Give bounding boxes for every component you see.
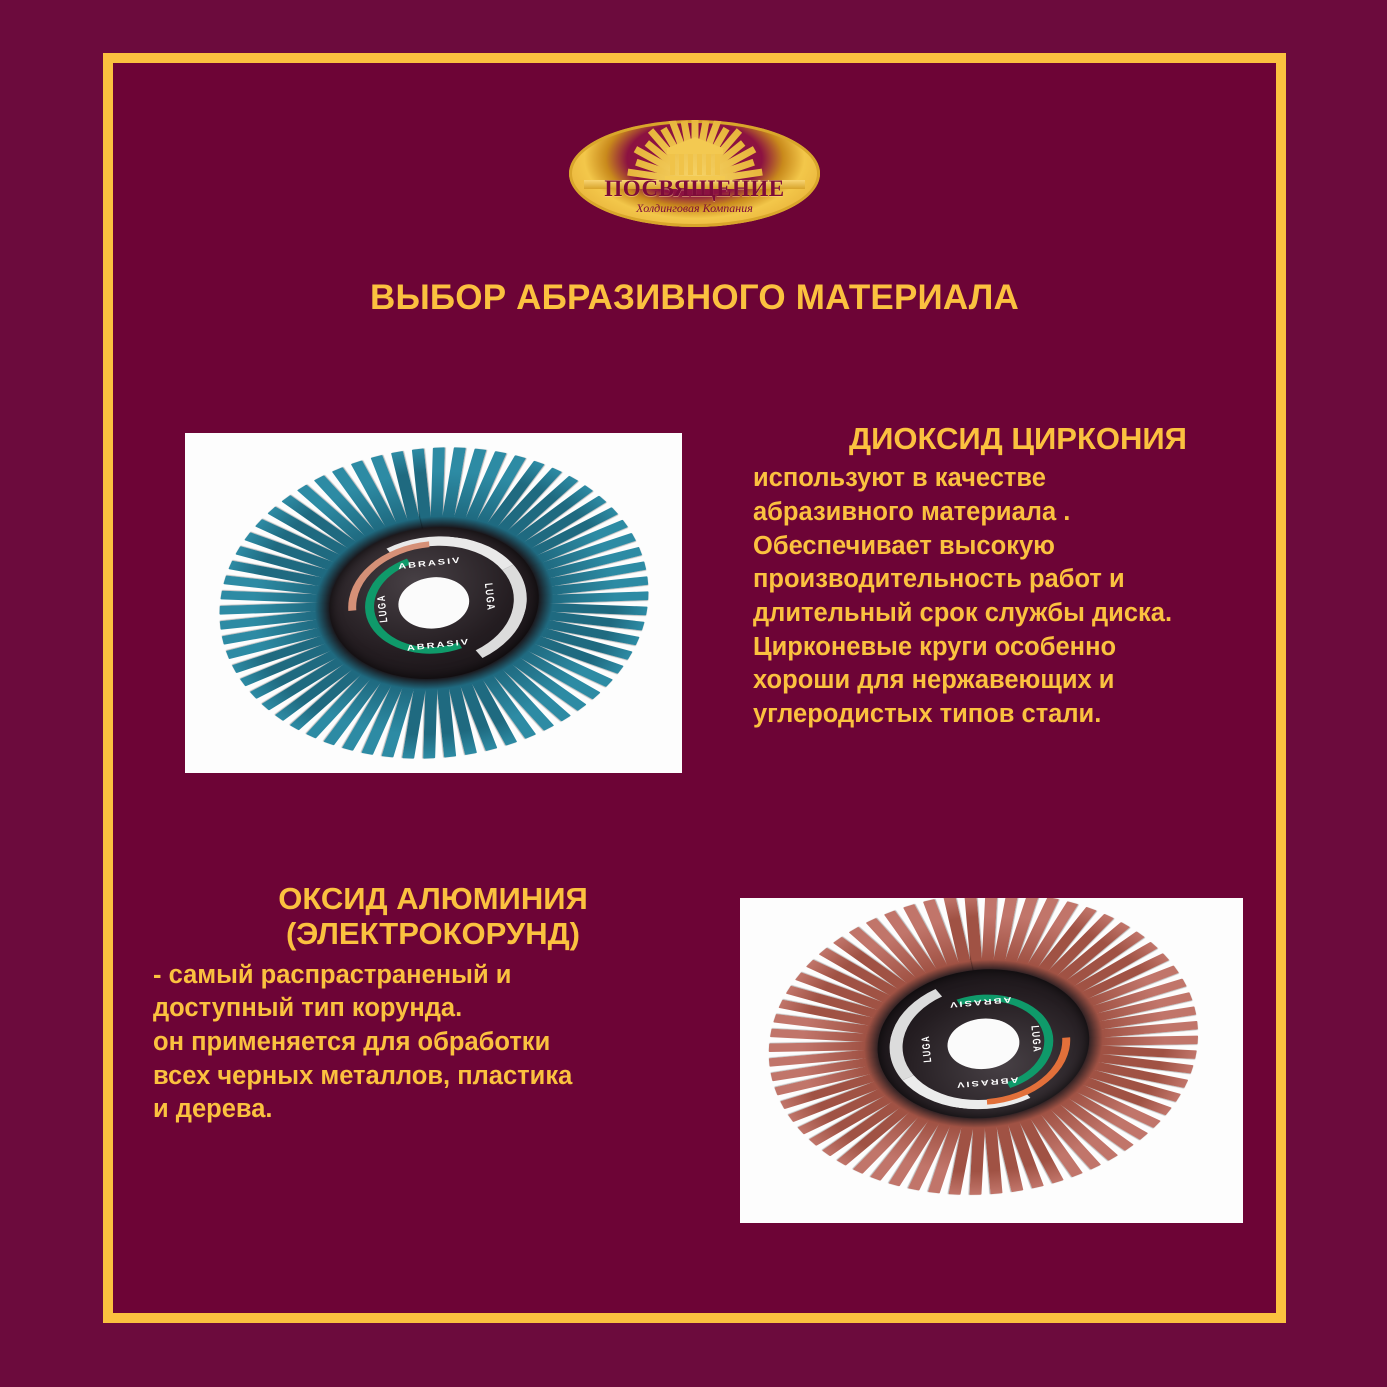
corundum-heading: ОКСИД АЛЮМИНИЯ(ЭЛЕКТРОКОРУНД) — [153, 881, 713, 952]
text-line: он применяется для обработки — [153, 1026, 713, 1060]
temple-columns — [670, 154, 720, 175]
logo-tagline: Холдинговая Компания — [569, 201, 820, 216]
text-line: углеродистых типов стали. — [753, 698, 1283, 732]
text-line: и дерева. — [153, 1093, 713, 1127]
text-line: (ЭЛЕКТРОКОРУНД) — [153, 916, 713, 951]
brand-label-luga-left: LUGA — [1028, 1025, 1042, 1053]
text-line: - самый распрастраненый и — [153, 959, 713, 993]
flap-disc-body: ABRASIV ABRASIV LUGA LUGA — [203, 433, 663, 773]
text-line: абразивного материала . — [753, 496, 1283, 530]
corundum-text-block: ОКСИД АЛЮМИНИЯ(ЭЛЕКТРОКОРУНД) - самый ра… — [153, 881, 713, 1127]
temple-roof — [665, 137, 725, 149]
zirconium-text-block: ДИОКСИД ЦИРКОНИЯ используют в качествеаб… — [753, 421, 1283, 732]
abrasive-flap — [768, 1041, 879, 1051]
zirconium-flap-disc-photo: ABRASIV ABRASIV LUGA LUGA — [185, 433, 682, 773]
aluminium-oxide-flap-disc-photo: ABRASIV ABRASIV LUGA LUGA — [740, 898, 1243, 1223]
text-line: используют в качестве — [753, 462, 1283, 496]
logo-oval-emblem-icon: ПОСВЯЩЕНИЕ Холдинговая Компания — [569, 120, 820, 227]
zirconium-body: используют в качествеабразивного материа… — [753, 462, 1283, 731]
text-line: хороши для нержавеющих и — [753, 664, 1283, 698]
disc-illustration: ABRASIV ABRASIV LUGA LUGA — [203, 433, 663, 773]
flap-disc-body: ABRASIV ABRASIV LUGA LUGA — [756, 898, 1211, 1212]
text-line: доступный тип корунда. — [153, 992, 713, 1026]
poster-frame: ПОСВЯЩЕНИЕ Холдинговая Компания ВЫБОР АБ… — [103, 53, 1286, 1323]
text-line: Обеспечивает высокую — [753, 530, 1283, 564]
disc-illustration: ABRASIV ABRASIV LUGA LUGA — [756, 898, 1211, 1212]
classical-temple-icon — [665, 137, 725, 177]
page-title: ВЫБОР АБРАЗИВНОГО МАТЕРИАЛА — [113, 278, 1276, 318]
text-line: длительный срок службы диска. — [753, 597, 1283, 631]
text-line: производительность работ и — [753, 563, 1283, 597]
logo-company-name: ПОСВЯЩЕНИЕ — [569, 176, 820, 202]
abrasive-flap — [1086, 1035, 1197, 1045]
text-line: всех черных металлов, пластика — [153, 1060, 713, 1094]
company-logo: ПОСВЯЩЕНИЕ Холдинговая Компания — [113, 120, 1276, 227]
text-line: Цирконевые круги особенно — [753, 631, 1283, 665]
zirconium-heading: ДИОКСИД ЦИРКОНИЯ — [753, 421, 1283, 456]
brand-label-luga-right: LUGA — [919, 1034, 933, 1062]
corundum-body: - самый распрастраненый идоступный тип к… — [153, 959, 713, 1127]
text-line: ОКСИД АЛЮМИНИЯ — [153, 881, 713, 916]
